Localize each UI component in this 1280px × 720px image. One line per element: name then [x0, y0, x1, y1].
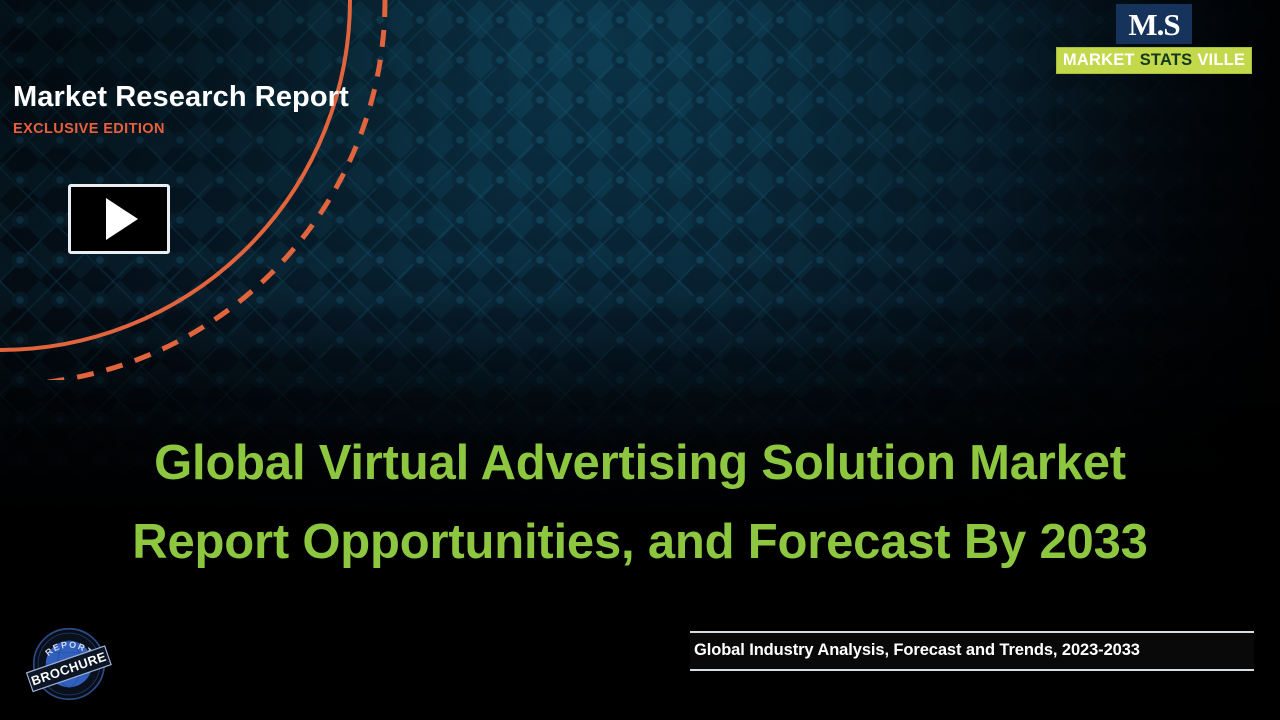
report-brochure-stamp[interactable]: REPORT BROCHURE [26, 621, 112, 707]
brand-monogram: M.S [1116, 4, 1192, 44]
brand-monogram-text: M.S [1128, 9, 1179, 40]
play-icon [106, 198, 138, 240]
report-title: Global Virtual Advertising Solution Mark… [0, 424, 1280, 583]
footer-banner: Global Industry Analysis, Forecast and T… [690, 631, 1254, 671]
brand-word-market: MARKET [1063, 51, 1135, 70]
page-title: Market Research Report [13, 82, 349, 114]
play-button[interactable] [68, 184, 170, 254]
brand-word-ville: VILLE [1197, 51, 1245, 70]
report-cover-slide: Market Research Report EXCLUSIVE EDITION… [0, 0, 1280, 720]
brand-word-stats: STATS [1140, 51, 1193, 70]
brand-wordmark: MARKET STATS VILLE [1056, 47, 1252, 74]
footer-subtitle: Global Industry Analysis, Forecast and T… [694, 641, 1254, 660]
edition-label: EXCLUSIVE EDITION [13, 121, 349, 137]
header-block: Market Research Report EXCLUSIVE EDITION [13, 82, 349, 137]
report-title-line-2: Report Opportunities, and Forecast By 20… [6, 503, 1274, 582]
report-title-line-1: Global Virtual Advertising Solution Mark… [154, 436, 1126, 490]
brand-logo[interactable]: M.S MARKET STATS VILLE [1056, 4, 1252, 74]
